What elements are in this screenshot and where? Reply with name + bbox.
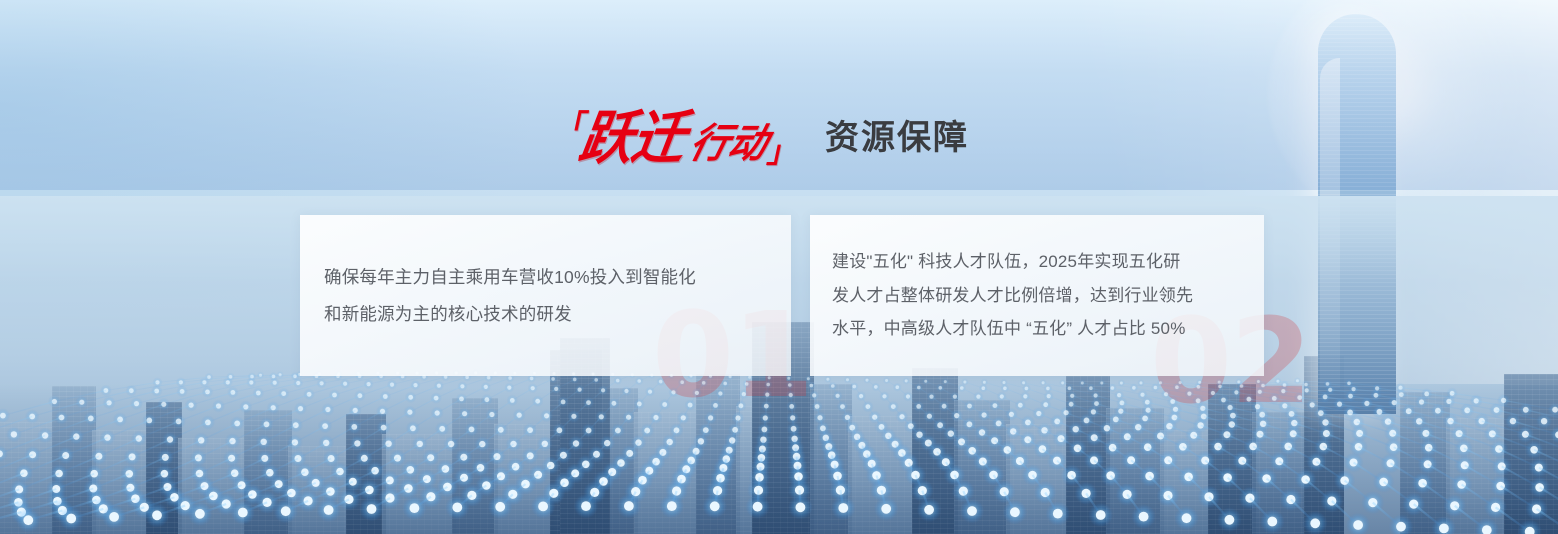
content-cards: 确保每年主力自主乘用车营收10%投入到智能化 和新能源为主的核心技术的研发 建设… bbox=[0, 0, 1558, 534]
info-card-01[interactable]: 确保每年主力自主乘用车营收10%投入到智能化 和新能源为主的核心技术的研发 bbox=[300, 215, 791, 376]
info-card-01-text: 确保每年主力自主乘用车营收10%投入到智能化 和新能源为主的核心技术的研发 bbox=[300, 259, 720, 332]
info-card-02-text: 建设"五化" 科技人才队伍，2025年实现五化研 发人才占整体研发人才比例倍增，… bbox=[810, 245, 1207, 346]
info-card-02[interactable]: 建设"五化" 科技人才队伍，2025年实现五化研 发人才占整体研发人才比例倍增，… bbox=[810, 215, 1264, 376]
slide-canvas: 01 02 「 跃迁 行动 」 资源保障 bbox=[0, 0, 1558, 534]
